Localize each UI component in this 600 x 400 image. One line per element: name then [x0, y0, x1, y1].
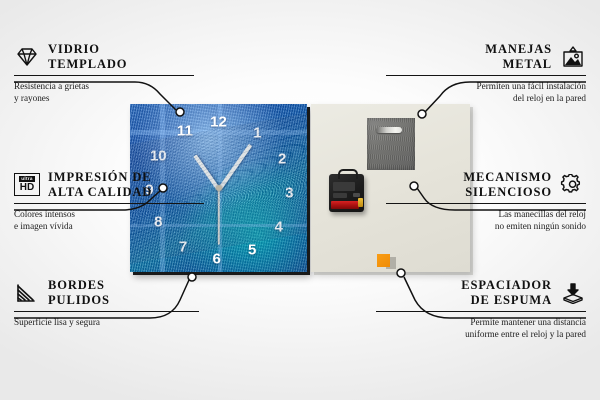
- feature-title-line2: TEMPLADO: [48, 57, 127, 72]
- clock-mechanism: [329, 174, 364, 212]
- feature-rule: [14, 75, 194, 76]
- battery: [331, 201, 359, 209]
- hanger-slot: [376, 127, 402, 133]
- mechanism-handle: [338, 169, 358, 179]
- feature-titles: ESPACIADOR DE ESPUMA: [461, 278, 552, 308]
- ultra-hd-icon: ultra HD: [14, 173, 40, 197]
- feature-rule: [14, 203, 204, 204]
- clock-numeral-3: 3: [285, 186, 293, 201]
- feature-impresion-alta-calidad: ultra HD IMPRESIÓN DE ALTA CALIDAD Color…: [14, 170, 204, 233]
- picture-frame-hanger-icon: [560, 45, 586, 69]
- feature-espaciador-de-espuma: ESPACIADOR DE ESPUMA Permite mantener un…: [376, 278, 586, 341]
- mechanism-detail: [333, 182, 355, 191]
- feature-rule: [14, 311, 199, 312]
- print-grid-line: [218, 104, 222, 272]
- mechanism-detail: [353, 193, 360, 197]
- minute-hand: [217, 144, 252, 191]
- gear-icon: [560, 173, 586, 197]
- feature-rule: [386, 75, 586, 76]
- clock-numeral-1: 1: [253, 125, 261, 140]
- feature-bordes-pulidos: BORDES PULIDOS Superficie lisa y segura: [14, 278, 199, 328]
- feature-rule: [376, 311, 586, 312]
- battery-terminal: [358, 198, 363, 207]
- feature-subtitle: Las manecillas del reloj no emiten ningú…: [386, 208, 586, 233]
- feature-titles: MANEJAS METAL: [485, 42, 552, 72]
- feature-title-line1: MECANISMO: [463, 170, 552, 185]
- feature-header: BORDES PULIDOS: [14, 278, 199, 308]
- feature-title-line2: DE ESPUMA: [461, 293, 552, 308]
- foam-spacer-arrow-icon: [560, 281, 586, 305]
- feature-titles: IMPRESIÓN DE ALTA CALIDAD: [48, 170, 152, 200]
- feature-title-line2: SILENCIOSO: [463, 185, 552, 200]
- clock-numeral-2: 2: [278, 152, 286, 167]
- feature-title-line1: BORDES: [48, 278, 110, 293]
- foam-spacer: [377, 254, 390, 267]
- feature-title-line1: VIDRIO: [48, 42, 127, 57]
- feature-title-line2: METAL: [485, 57, 552, 72]
- hands-center-cap: [216, 185, 222, 191]
- product-infographic: 12 1 2 3 4 5 6 7 8 9 10 11: [0, 0, 600, 400]
- ultra-hd-icon-main-text: HD: [20, 183, 34, 193]
- feature-header: VIDRIO TEMPLADO: [14, 42, 194, 72]
- feature-vidrio-templado: VIDRIO TEMPLADO Resistencia a grietas y …: [14, 42, 194, 105]
- feature-subtitle: Colores intensos e imagen vívida: [14, 208, 204, 233]
- feature-subtitle: Resistencia a grietas y rayones: [14, 80, 194, 105]
- feature-titles: MECANISMO SILENCIOSO: [463, 170, 552, 200]
- feature-header: ESPACIADOR DE ESPUMA: [376, 278, 586, 308]
- feature-title-line1: IMPRESIÓN DE: [48, 170, 152, 185]
- feature-titles: BORDES PULIDOS: [48, 278, 110, 308]
- feature-titles: VIDRIO TEMPLADO: [48, 42, 127, 72]
- second-hand: [218, 189, 220, 245]
- diamond-icon: [14, 45, 40, 69]
- feature-header: ultra HD IMPRESIÓN DE ALTA CALIDAD: [14, 170, 204, 200]
- feature-title-line1: ESPACIADOR: [461, 278, 552, 293]
- feature-header: MANEJAS METAL: [386, 42, 586, 72]
- mechanism-detail: [333, 193, 347, 198]
- feature-header: MECANISMO SILENCIOSO: [386, 170, 586, 200]
- clock-numeral-7: 7: [179, 239, 187, 254]
- feature-subtitle: Superficie lisa y segura: [14, 316, 199, 328]
- feature-title-line1: MANEJAS: [485, 42, 552, 57]
- polished-edge-icon: [14, 281, 40, 305]
- feature-mecanismo-silencioso: MECANISMO SILENCIOSO Las manecillas del …: [386, 170, 586, 233]
- hanger-plate: [367, 118, 415, 170]
- feature-manejas-metal: MANEJAS METAL Permiten una fácil instala…: [386, 42, 586, 105]
- ultra-hd-badge: ultra HD: [14, 173, 40, 196]
- clock-numeral-10: 10: [150, 149, 167, 164]
- feature-title-line2: PULIDOS: [48, 293, 110, 308]
- feature-subtitle: Permite mantener una distancia uniforme …: [376, 316, 586, 341]
- feature-subtitle: Permiten una fácil instalación del reloj…: [386, 80, 586, 105]
- feature-rule: [386, 203, 586, 204]
- feature-title-line2: ALTA CALIDAD: [48, 185, 152, 200]
- clock-numeral-4: 4: [275, 219, 283, 234]
